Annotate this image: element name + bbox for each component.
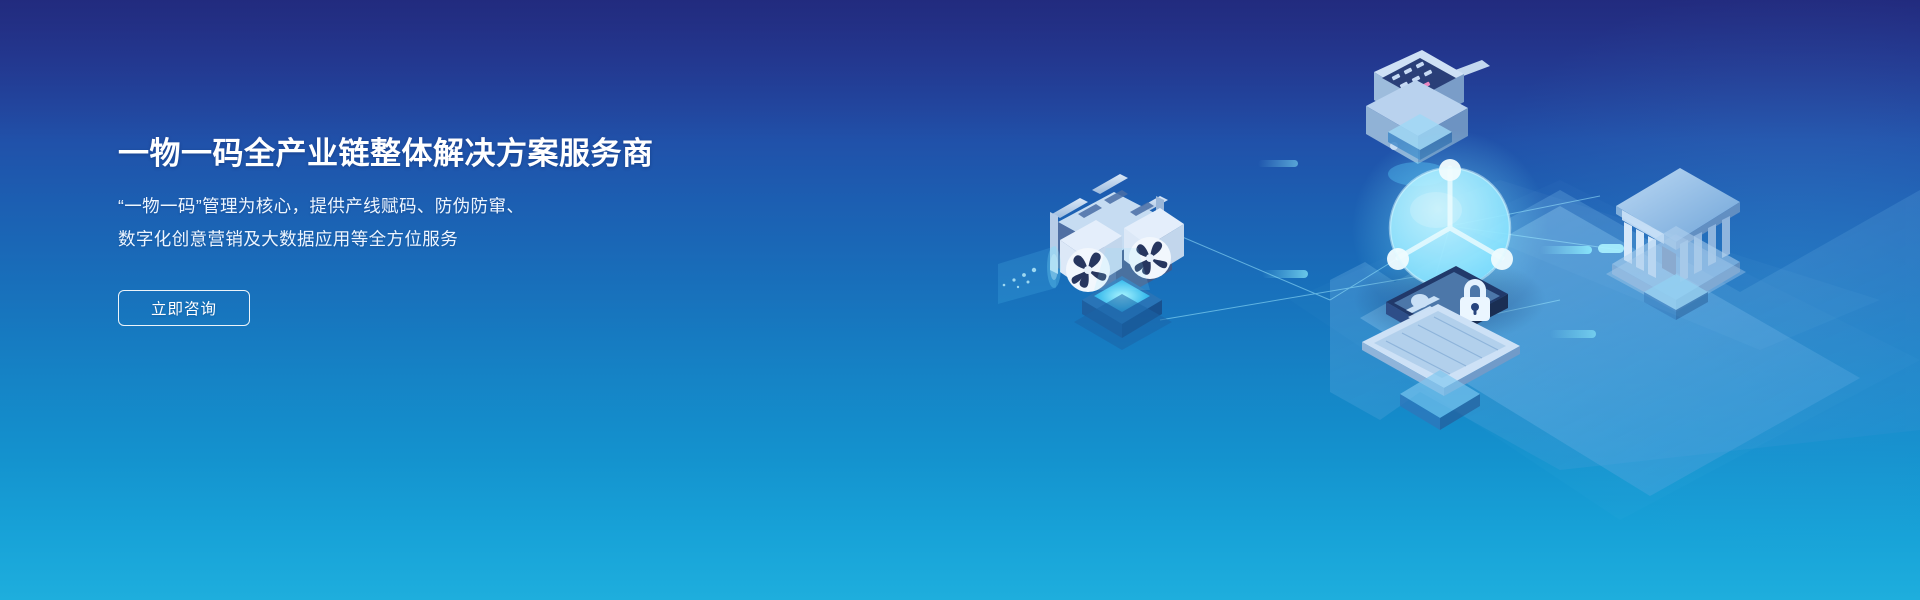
hero-subtitle-line-1: “一物一码”管理为核心，提供产线赋码、防伪防窜、 [118, 190, 818, 223]
hero-copy: 一物一码全产业链整体解决方案服务商 “一物一码”管理为核心，提供产线赋码、防伪防… [118, 132, 818, 326]
server-rack-fans-icon [998, 174, 1184, 304]
hero-banner: 一物一码全产业链整体解决方案服务商 “一物一码”管理为核心，提供产线赋码、防伪防… [0, 0, 1920, 600]
airflow [998, 246, 1061, 304]
page-title: 一物一码全产业链整体解决方案服务商 [118, 132, 818, 176]
consult-now-button[interactable]: 立即咨询 [118, 290, 250, 326]
hero-subtitle: “一物一码”管理为核心，提供产线赋码、防伪防窜、 数字化创意营销及大数据应用等全… [118, 190, 818, 256]
hero-illustration [860, 0, 1920, 600]
hero-subtitle-line-2: 数字化创意营销及大数据应用等全方位服务 [118, 223, 818, 256]
